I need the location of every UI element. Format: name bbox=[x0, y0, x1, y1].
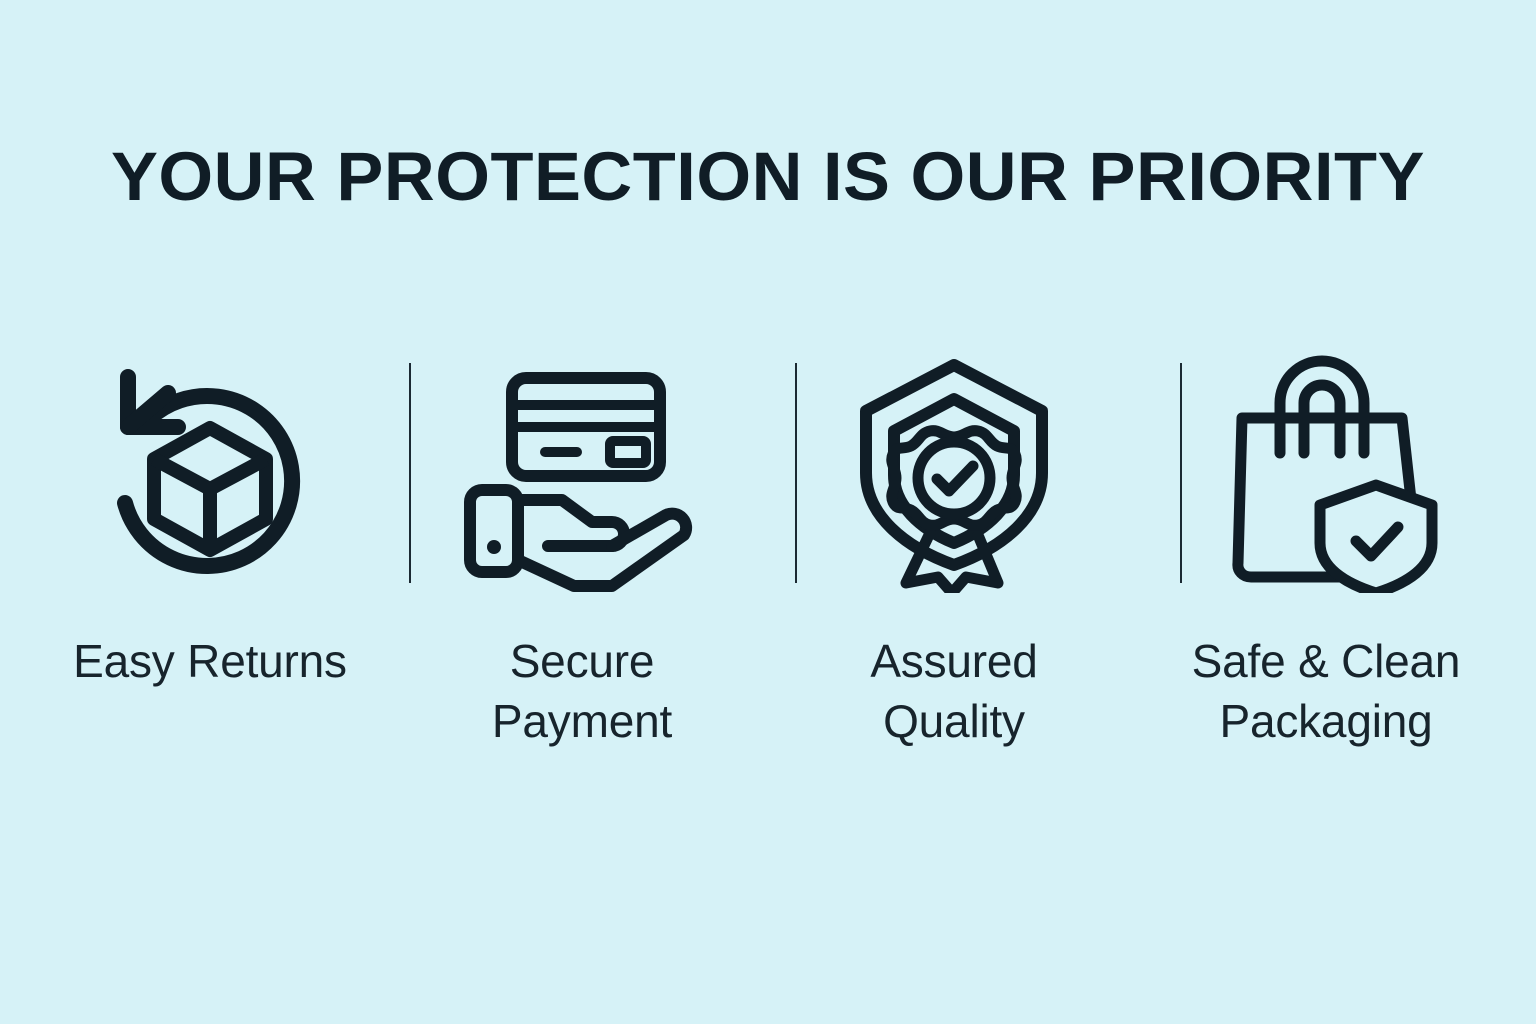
feature-label: Assured Quality bbox=[870, 631, 1037, 751]
feature-label: Safe & Clean Packaging bbox=[1192, 631, 1461, 751]
shopping-bag-shield-icon bbox=[1206, 355, 1446, 593]
column-divider-1 bbox=[409, 363, 411, 583]
shield-award-badge-icon bbox=[834, 355, 1074, 593]
protection-banner: YOUR PROTECTION IS OUR PRIORITY Easy Ret… bbox=[0, 0, 1536, 1024]
feature-item-easy-returns: Easy Returns bbox=[24, 355, 396, 691]
column-divider-3 bbox=[1180, 363, 1182, 583]
page-title: YOUR PROTECTION IS OUR PRIORITY bbox=[0, 142, 1536, 211]
feature-label: Easy Returns bbox=[73, 631, 347, 691]
column-divider-2 bbox=[795, 363, 797, 583]
feature-item-assured-quality: Assured Quality bbox=[768, 355, 1140, 751]
card-in-hand-icon bbox=[462, 355, 702, 593]
feature-label: Secure Payment bbox=[492, 631, 672, 751]
feature-item-secure-payment: Secure Payment bbox=[396, 355, 768, 751]
feature-item-safe-clean-packaging: Safe & Clean Packaging bbox=[1140, 355, 1512, 751]
feature-list: Easy Returns Secure Payment bbox=[24, 355, 1512, 751]
return-box-icon bbox=[90, 355, 330, 593]
